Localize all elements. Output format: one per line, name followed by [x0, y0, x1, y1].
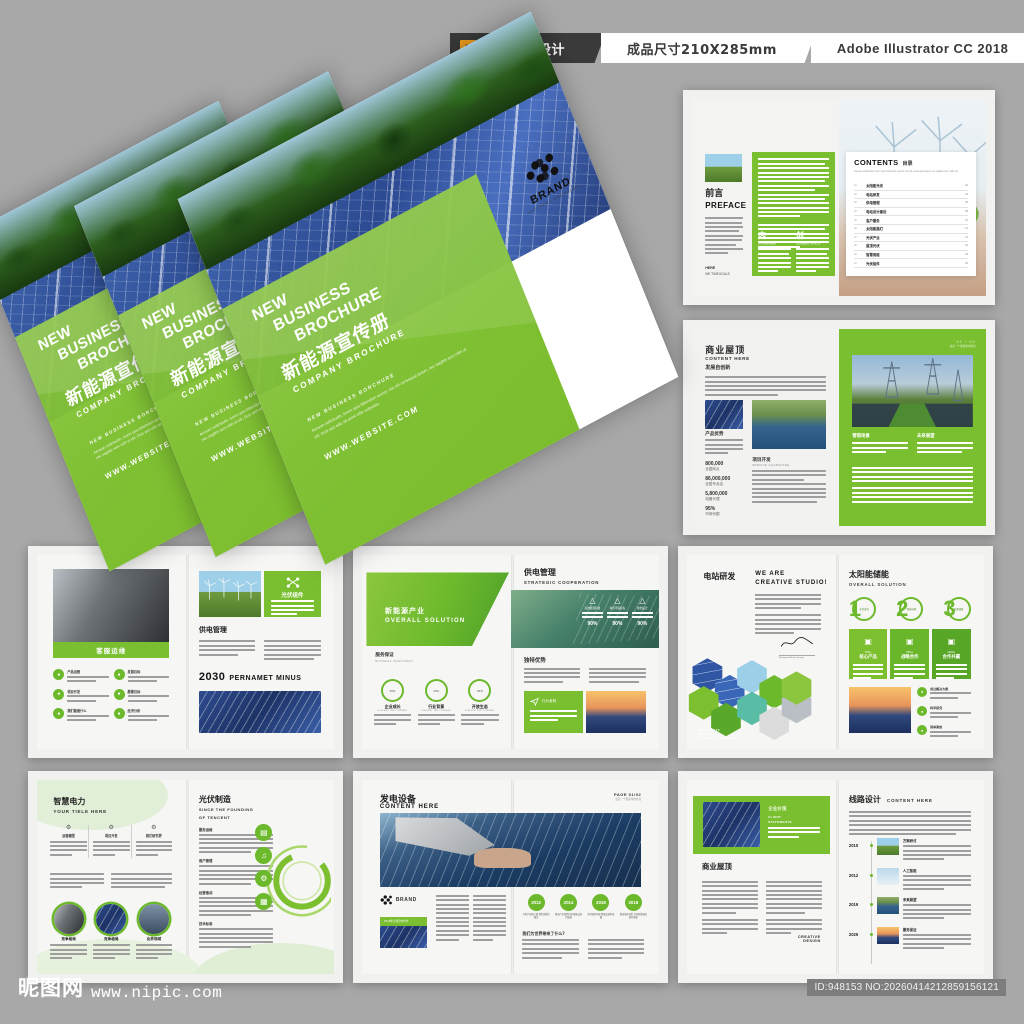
monitor-icon: ⚙ [93, 825, 130, 831]
bullet-label: 科学研究 [930, 706, 970, 710]
route-green-card: 企业价值 CLIENT STATEMENTS [693, 796, 830, 854]
spread-inner: 前言 PREFACE HERE WE TIMEGOALS [692, 99, 986, 296]
power-column: ⚙项目开发 [88, 825, 130, 859]
stat-item: 86,000,000全国专卖店 [705, 476, 743, 487]
route-card-photo [703, 802, 760, 846]
spread-inner: 客服运维 ●产品运营●发展目标●项目开发●愿景目标●我们能做什么●经济分析 [37, 555, 334, 749]
step-ring: 能源储备 [947, 597, 971, 621]
contents-label: 电站研发 [866, 192, 962, 197]
kpi-value: 90% [582, 621, 603, 627]
solution-card: 行为准则 [524, 691, 583, 734]
shield-icon: ● [114, 669, 125, 680]
year-item: 2014推动产业转型升级 赋能品质的发展 [555, 894, 582, 920]
card-label: 合作共赢 [936, 654, 967, 660]
gear-icon: ⚙ [50, 825, 87, 831]
creative-cards: ▣760+核心产品▣650+战略合作▣1200+合作共赢 [849, 629, 971, 679]
contents-no: 06 [854, 227, 863, 230]
pylon-icon [852, 355, 973, 428]
creative-right-page: 太阳能储能 OVERALL SOLUTION 1光伏发电2智能电网3能源储备 ▣… [836, 555, 985, 749]
col-title: 未来展望 [917, 433, 973, 439]
year-desc: 推动绿色转型 打造新能源品质的发展 [620, 913, 647, 920]
service-card-title: 光伏组件 [264, 591, 320, 599]
power-columns: ⚙运营模型⚙项目开发⚙我们研究界 [50, 825, 172, 859]
roof-service-en: SERVICE GUARANTEE [752, 463, 826, 467]
solution-circle: 50%企业成长PLACENT THE COMPANY [374, 679, 411, 727]
service-item-label: 经济分析 [128, 708, 170, 713]
timeline-year: 2010 [849, 838, 866, 848]
timeline-label: 服务保证 [903, 927, 971, 932]
power-photo-label: 业界领域 [136, 937, 173, 942]
power-title-cn: 智慧电力 [53, 796, 85, 807]
route-left-page: 企业价值 CLIENT STATEMENTS 商业屋顶 [687, 780, 836, 974]
stat-item: 5,800,000电器代理 [705, 491, 743, 502]
creative-body [755, 594, 820, 637]
kpi-item: △高效能源科技90% [582, 597, 603, 627]
service-hero-caption: 客服运维 [53, 642, 169, 658]
equipment-right-lower: 2012为用户创造价值 提供优质的服务2014推动产业转型升级 赋能品质的发展2… [511, 891, 660, 974]
preface-green-col-left: 内 太阳能储能 [758, 230, 791, 274]
poster-canvas: Ai 原创画册设计 成品尺寸210X285mm Adobe Illustrato… [0, 0, 1024, 1024]
contents-label: 光伏组件 [866, 261, 962, 266]
equipment-small-photo [380, 926, 428, 948]
contents-label: 光伏产业 [866, 235, 962, 240]
equipment-text-col2 [473, 895, 506, 943]
spread-preface: 前言 PREFACE HERE WE TIMEGOALS [683, 90, 995, 305]
roof-green-col-right: 未来展望 [917, 433, 973, 455]
rocket-icon: △ [632, 597, 653, 605]
circle-label-en: PLACENT THE COMPANY [418, 710, 455, 712]
bullet-label: 用过解决方案 [930, 687, 970, 691]
contents-item[interactable]: 10光伏组件20 [854, 259, 968, 268]
timeline-item[interactable]: 2012人工智能 [849, 868, 971, 893]
card-label: 战略合作 [894, 654, 925, 660]
step-label: 光伏发电 [859, 607, 869, 611]
chart-icon: ● [53, 689, 64, 700]
timeline-item[interactable]: 2010方案研讨 [849, 838, 971, 863]
hand-icon: ▣ [894, 638, 925, 646]
equipment-hero-photo [380, 813, 641, 887]
molecule-icon [285, 576, 301, 590]
banner-title-cn: 新能源产业 [385, 606, 425, 616]
spread-solution: 新能源产业 OVERALL SOLUTION 服务保证 BUSINESS INV… [353, 546, 668, 758]
solution-right-page: 供电管理 STRATEGIC COOPERATION △高效能源科技90%△绿色… [511, 555, 660, 749]
tag-size: 成品尺寸210X285mm [601, 33, 797, 63]
contents-card: CONTENTS 目录 Aenean sollicitudin lorem qu… [846, 152, 975, 276]
equipment-years: 2012为用户创造价值 提供优质的服务2014推动产业转型升级 赋能品质的发展2… [522, 894, 647, 920]
timeline-dot [870, 874, 873, 877]
leaf-icon: ● [53, 669, 64, 680]
cover-mockup-3d: NEW BUSINESS BROCHURE 新能源宣传册 COMPANY BRO… [22, 96, 662, 536]
roof-hero-photo [852, 355, 973, 428]
spread-inner: 电站研发 WE ARE CREATIVE STUDIO! Manager Edi… [687, 555, 984, 749]
big-year: 2030 [199, 671, 225, 683]
service-item-label: 我们能做什么 [67, 708, 109, 713]
timeline-dot [870, 933, 873, 936]
watermark-url: www.nipic.com [91, 984, 222, 1002]
contents-no: 03 [854, 201, 863, 204]
stat-item: 95%市场份额 [705, 506, 743, 517]
contents-label: 供电管理 [866, 200, 962, 205]
route-right-page: 线路设计 CONTENT HERE 2010方案研讨2012人工智能2019未来… [836, 780, 985, 974]
equipment-photo-caption: 2018年全球合作伙伴 [380, 917, 428, 925]
route-card-title-cn: 企业价值 [768, 806, 786, 812]
spread-roof: 商业屋顶 CONTENT HERE 发展自创新 产品优势 800,000全国网点… [683, 320, 995, 535]
power-photo-label: 竞争格局 [50, 937, 87, 942]
contents-page: 04 [965, 193, 968, 196]
contents-item[interactable]: 05客户服务10 [854, 216, 968, 225]
percent-value: 25% [477, 689, 483, 693]
tree-icon: △ [607, 597, 628, 605]
roof-left-heading: 产品优势 [705, 431, 723, 437]
power-title-en: YOUR TIELE HERE [53, 809, 107, 814]
preface-body [705, 217, 743, 257]
contents-label: 屋顶光伏 [866, 243, 962, 248]
step-ring: 智能电网 [899, 597, 923, 621]
power-right-title-en1: SINCE THE FOUNDING [199, 807, 254, 812]
route-intro [849, 811, 971, 837]
power-photo-item: 业界领域 [136, 904, 173, 962]
stat-label: 市场份额 [705, 512, 743, 517]
power-photo-row: 竞争格局竞争格局业界领域 [50, 904, 172, 962]
roof-green-col-left: 营销场景 [852, 433, 908, 455]
kpi-label: 规划设计 [632, 606, 653, 610]
power-column-label: 项目开发 [93, 833, 130, 838]
contents-item[interactable]: 06太阳能路灯12 [854, 225, 968, 234]
contents-sub: Aenean sollicitudin lorem quis bibendum … [854, 170, 963, 174]
percent-ring: 25% [425, 679, 448, 702]
spread-inner: 智慧电力 YOUR TIELE HERE ⚙运营模型⚙项目开发⚙我们研究界 竞争… [37, 780, 334, 974]
bolt-icon: ● [917, 725, 927, 735]
service-right-page: 光伏组件 供电管理 2030 PERNAMET MINUS [186, 555, 335, 749]
col-num: 内 [758, 230, 791, 241]
contents-page: 08 [965, 210, 968, 213]
power-ring-graphic: ▤♫⚙▦ [254, 819, 331, 939]
step-item: 3能源储备 [943, 597, 970, 621]
stat-label: 全国网点 [705, 467, 743, 472]
service-item[interactable]: ●发展目标 [114, 669, 170, 684]
timeline-year: 2019 [849, 897, 866, 907]
route-card-en1: CLIENT [768, 815, 781, 819]
solution-kpis: △高效能源科技90%△绿色环保优先90%△规划设计90% [582, 597, 653, 627]
roof-intro-text [705, 376, 826, 398]
share-icon: ● [53, 708, 64, 719]
hex-caption-3: EXPECTED ADOPTION [699, 737, 738, 741]
service-item[interactable]: ●项目开发 [53, 689, 109, 704]
contents-page: 20 [965, 262, 968, 265]
contents-item[interactable]: 08屋顶光伏16 [854, 242, 968, 251]
year-desc: 推动产业转型升级 赋能品质的发展 [555, 913, 582, 920]
year-badge: 2018 [592, 894, 609, 911]
contents-page: 12 [965, 227, 968, 230]
power-right-title-cn: 光伏制造 [199, 794, 231, 805]
contents-title: CONTENTS [854, 158, 898, 167]
monitor-icon: ▣ [853, 638, 884, 646]
power-photo-label: 竞争格局 [93, 937, 130, 942]
creative-card: ▣760+核心产品 [849, 629, 888, 679]
power-right-title-en2: OF TENCENT [199, 815, 231, 820]
creative-right-title-cn: 太阳能储能 [849, 569, 889, 580]
equipment-title-en: CONTENT HERE [380, 804, 439, 810]
equipment-page-label: PAGE 01/02 [614, 792, 641, 797]
creative-title-en2: CREATIVE STUDIO! [755, 580, 827, 586]
kpi-label: 绿色环保优先 [607, 606, 628, 610]
route-card-en2: STATEMENTS [768, 820, 792, 824]
kpi-item: △绿色环保优先90% [607, 597, 628, 627]
spread-inner: 企业价值 CLIENT STATEMENTS 商业屋顶 [687, 780, 984, 974]
contents-title-cn: 目录 [903, 160, 913, 167]
creative-right-title-en: OVERALL SOLUTION [849, 582, 907, 587]
roof-page-sub: 这是一个很简单的布局 [950, 344, 976, 348]
service-left-page: 客服运维 ●产品运营●发展目标●项目开发●愿景目标●我们能做什么●经济分析 [37, 555, 186, 749]
creative-steps: 1光伏发电2智能电网3能源储备 [849, 594, 971, 625]
power-left-page: 智慧电力 YOUR TIELE HERE ⚙运营模型⚙项目开发⚙我们研究界 竞争… [37, 780, 186, 974]
year-badge: 2018 [625, 894, 642, 911]
col-label: 太阳能储能 [758, 241, 791, 246]
preface-title-en: PREFACE [705, 201, 746, 210]
service-item-label: 发展目标 [128, 669, 170, 674]
contents-no: 05 [854, 219, 863, 222]
contents-item[interactable]: 03供电管理06 [854, 199, 968, 208]
solution-circle: 25%行业背景PLACENT THE COMPANY [418, 679, 455, 727]
banner-title-en: OVERALL SOLUTION [385, 618, 465, 624]
contents-no: 08 [854, 244, 863, 247]
year-desc: 坚持绿色环保 赋能品质的发展 [587, 913, 614, 920]
contents-no: 09 [854, 253, 863, 256]
percent-ring: 50% [381, 679, 404, 702]
caption-label: 2018年全球合作伙伴 [384, 919, 409, 923]
year-badge: 2012 [528, 894, 545, 911]
power-right-page: 光伏制造 SINCE THE FOUNDING OF TENCENT 服务运维用… [186, 780, 335, 974]
service-card: 光伏组件 [264, 571, 320, 618]
route-left-heading: 商业屋顶 [702, 861, 732, 872]
service-item[interactable]: ●愿景目标 [114, 689, 170, 704]
year-item: 2018坚持绿色环保 赋能品质的发展 [587, 894, 614, 920]
timeline-photo [877, 838, 899, 855]
year-item: 2012为用户创造价值 提供优质的服务 [522, 894, 549, 920]
solution-s2-left [524, 668, 580, 686]
power-column: ⚙我们研究界 [131, 825, 173, 859]
service-text-right [264, 640, 320, 662]
spread-creative: 电站研发 WE ARE CREATIVE STUDIO! Manager Edi… [678, 546, 993, 758]
network-icon[interactable]: ⚙ [255, 870, 272, 887]
preface-footer-tag: HERE [705, 266, 715, 270]
grid-icon: ▣ [936, 638, 967, 646]
roof-sub-cn: 发展自创新 [705, 364, 730, 371]
preface-title-cn: 前言 [705, 186, 723, 199]
preface-page: 前言 PREFACE HERE WE TIMEGOALS [692, 99, 839, 296]
roof-right-page: 01 / 02 这是一个很简单的布局 [839, 329, 986, 526]
kpi-value: 90% [607, 621, 628, 627]
creative-title-en1: WE ARE [755, 571, 785, 577]
service-text-left [199, 640, 255, 658]
step-label: 能源储备 [954, 607, 964, 611]
roof-left-text [705, 439, 743, 457]
creative-card: ▣1200+合作共赢 [932, 629, 971, 679]
equipment-brand-name: BRAND [396, 897, 417, 903]
contents-item[interactable]: 09智慧用能18 [854, 251, 968, 260]
roof-service: 项目开发 SERVICE GUARANTEE [752, 457, 826, 505]
solution-left-page: 新能源产业 OVERALL SOLUTION 服务保证 BUSINESS INV… [362, 555, 511, 749]
equipment-question: 我们为世界带来了什么? [522, 931, 564, 937]
id-badge: ID:948153 NO:20260414212859156121 [807, 979, 1006, 996]
power-column-label: 我们研究界 [136, 833, 173, 838]
service-item-grid: ●产品运营●发展目标●项目开发●愿景目标●我们能做什么●经济分析 [53, 669, 169, 727]
equipment-brand: BRAND [380, 895, 417, 905]
contents-item[interactable]: 04电站设计建设08 [854, 208, 968, 217]
percent-value: 25% [433, 689, 439, 693]
solution-hero-photo: △高效能源科技90%△绿色环保优先90%△规划设计90% [511, 590, 660, 648]
route-right-title-en: CONTENT HERE [887, 798, 933, 803]
preface-photo [705, 154, 742, 182]
leaf-icon: ● [917, 687, 927, 697]
timeline-label: 人工智能 [903, 868, 971, 873]
contents-no: 01 [854, 184, 863, 187]
col-num: 创 [796, 230, 829, 241]
creative-title-cn: 电站研发 [703, 571, 735, 582]
contents-list: 01太阳能光伏0202电站研发0403供电管理0604电站设计建设0805客户服… [854, 182, 968, 268]
percent-ring: 25% [468, 679, 491, 702]
contents-item[interactable]: 01太阳能光伏02 [854, 182, 968, 191]
solution-right-title-cn: 供电管理 [524, 567, 556, 578]
kpi-item: △规划设计90% [632, 597, 653, 627]
service-item[interactable]: ●我们能做什么 [53, 708, 109, 723]
brand-dots-icon [380, 895, 392, 905]
contents-page: 18 [965, 253, 968, 256]
hex-captions: ELABORATE DESIGN EXPECTED ADOPTION [699, 729, 738, 741]
equipment-q-col1 [522, 939, 578, 961]
service-bottom-photo [199, 691, 321, 734]
contents-item[interactable]: 07光伏产业14 [854, 234, 968, 243]
contents-page: CONTENTS 目录 Aenean sollicitudin lorem qu… [839, 99, 986, 296]
tag-label: 成品尺寸210X285mm [627, 39, 777, 58]
preface-footer-sub: WE TIMEGOALS [705, 272, 730, 276]
power-photo-item: 竞争格局 [50, 904, 87, 962]
card-label: 核心产品 [853, 654, 884, 660]
timeline-year: 2012 [849, 868, 866, 878]
solution-section2: 独特优势 [524, 656, 546, 664]
contents-page: 10 [965, 219, 968, 222]
drop-icon: ● [114, 689, 125, 700]
service-item-label: 项目开发 [67, 689, 109, 694]
preface-green-panel: 内 太阳能储能 创 太阳能光电毛件 [752, 152, 834, 276]
watermark: 昵图网 www.nipic.com [18, 972, 222, 1002]
power-column-label: 运营模型 [50, 833, 87, 838]
percent-value: 50% [390, 689, 396, 693]
windfarm-photo [199, 571, 261, 618]
circle-label-en: PLACENT THE COMPANY [461, 710, 498, 712]
equipment-title-cn: 发电设备 [380, 792, 416, 805]
route-footer-2: DESIGN [798, 939, 821, 943]
trophy-icon: △ [582, 597, 603, 605]
roof-stats: 800,000全国网点86,000,000全国专卖店5,800,000电器代理9… [705, 461, 743, 521]
step-item: 2智能电网 [896, 597, 923, 621]
year-item: 2018推动绿色转型 打造新能源品质的发展 [620, 894, 647, 920]
spread-equipment: 发电设备 CONTENT HERE PAGE 01/02 这是一个很简单的布局 … [353, 771, 668, 983]
contents-label: 客户服务 [866, 218, 962, 223]
bullet-label: 简单高效 [930, 725, 970, 729]
headset-icon[interactable]: ♫ [255, 847, 272, 864]
power-photo-item: 竞争格局 [93, 904, 130, 962]
spread-route: 企业价值 CLIENT STATEMENTS 商业屋顶 [678, 771, 993, 983]
col-title: 营销场景 [852, 433, 908, 439]
contents-label: 智慧用能 [866, 252, 962, 257]
roof-photo-small [705, 400, 743, 430]
tag-label: Adobe Illustrator CC 2018 [837, 41, 1008, 56]
timeline-label: 未来展望 [903, 897, 971, 902]
puzzle-icon[interactable]: ▦ [255, 893, 272, 910]
creative-bullet[interactable]: ●简单高效 [917, 725, 970, 739]
solution-banner: 新能源产业 OVERALL SOLUTION [366, 572, 509, 646]
step-ring: 光伏发电 [852, 597, 876, 621]
power-photo [54, 904, 84, 934]
send-icon [530, 697, 539, 706]
creative-bullets: ●用过解决方案●科学研究●简单高效 [917, 687, 970, 745]
timeline-photo [877, 897, 899, 914]
roof-green-body [852, 467, 973, 505]
service-big-line: 2030 PERNAMET MINUS [199, 671, 302, 683]
contents-page: 16 [965, 244, 968, 247]
creative-left-page: 电站研发 WE ARE CREATIVE STUDIO! Manager Edi… [687, 555, 836, 749]
solution-s2-right [589, 668, 645, 686]
service-item[interactable]: ●经济分析 [114, 708, 170, 723]
service-item[interactable]: ●产品运营 [53, 669, 109, 684]
creative-bullet[interactable]: ●用过解决方案 [917, 687, 970, 701]
route-timeline: 2010方案研讨2012人工智能2019未来展望2025服务保证 [849, 838, 971, 966]
equipment-page-sub: 这是一个很简单的布局 [614, 797, 641, 801]
step-label: 智能电网 [907, 607, 917, 611]
contents-no: 10 [854, 262, 863, 265]
equipment-left-lower: BRAND 2018年全球合作伙伴 [362, 891, 511, 974]
step-item: 1光伏发电 [849, 597, 876, 621]
flask-icon: ● [917, 706, 927, 716]
watermark-cn: 昵图网 [18, 972, 84, 1002]
timeline-item[interactable]: 2025服务保证 [849, 927, 971, 952]
preface-green-col-right: 创 太阳能光电毛件 [796, 230, 829, 274]
kpi-value: 90% [632, 621, 653, 627]
contents-no: 07 [854, 236, 863, 239]
stat-item: 800,000全国网点 [705, 461, 743, 472]
year-badge: 2014 [560, 894, 577, 911]
check-icon: ● [114, 708, 125, 719]
contents-page: 14 [965, 236, 968, 239]
solution-left-title-cn: 服务保证 [375, 652, 393, 658]
spread-inner: 发电设备 CONTENT HERE PAGE 01/02 这是一个很简单的布局 … [362, 780, 659, 974]
contents-label: 电站设计建设 [866, 209, 962, 214]
route-left-footer: CREATIVE DESIGN [798, 935, 821, 943]
contents-no: 04 [854, 210, 863, 213]
service-heading: 供电管理 [199, 625, 227, 635]
circle-label-en: PLACENT THE COMPANY [374, 710, 411, 712]
timeline-item[interactable]: 2019未来展望 [849, 897, 971, 922]
solution-circles: 50%企业成长PLACENT THE COMPANY25%行业背景PLACENT… [374, 679, 499, 727]
timeline-dot [870, 844, 873, 847]
chart-icon[interactable]: ▤ [255, 824, 272, 841]
roof-left-page: 商业屋顶 CONTENT HERE 发展自创新 产品优势 800,000全国网点… [692, 329, 839, 526]
route-right-title-cn: 线路设计 [849, 794, 881, 805]
contents-no: 02 [854, 193, 863, 196]
contents-page: 02 [965, 184, 968, 187]
solution-circle: 25%开放生态PLACENT THE COMPANY [461, 679, 498, 727]
power-photo [139, 904, 169, 934]
roof-photo-lake [752, 400, 826, 449]
contents-item[interactable]: 02电站研发04 [854, 191, 968, 200]
tag-software: Adobe Illustrator CC 2018 [811, 33, 1024, 63]
route-left-col1 [702, 881, 758, 937]
service-hero-photo [53, 569, 169, 650]
spread-inner: 商业屋顶 CONTENT HERE 发展自创新 产品优势 800,000全国网点… [692, 329, 986, 526]
creative-bullet[interactable]: ●科学研究 [917, 706, 970, 720]
power-photo [96, 904, 126, 934]
